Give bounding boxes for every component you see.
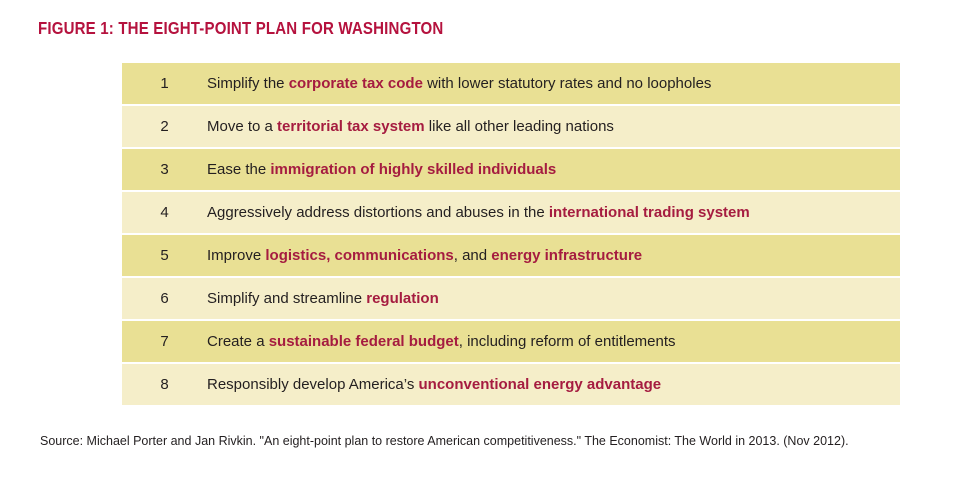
plain-phrase: Aggressively address distortions and abu… (207, 204, 549, 221)
plain-phrase: Move to a (207, 118, 277, 135)
plain-phrase: Create a (207, 333, 269, 350)
row-text: Simplify the corporate tax code with low… (207, 75, 900, 93)
row-number: 4 (122, 204, 207, 221)
plain-phrase: Simplify and streamline (207, 290, 366, 307)
table-row: 1Simplify the corporate tax code with lo… (122, 63, 900, 104)
source-note: Source: Michael Porter and Jan Rivkin. "… (40, 432, 945, 450)
table-row: 8Responsibly develop America’s unconvent… (122, 364, 900, 405)
table-row: 3Ease the immigration of highly skilled … (122, 149, 900, 190)
figure-container: Figure 1: The Eight-Point Plan for Washi… (0, 0, 966, 491)
row-number: 3 (122, 161, 207, 178)
plain-phrase: Simplify the (207, 75, 289, 92)
row-number: 5 (122, 247, 207, 264)
table-row: 7Create a sustainable federal budget, in… (122, 321, 900, 362)
row-number: 2 (122, 118, 207, 135)
highlighted-phrase: immigration of highly skilled individual… (270, 161, 556, 178)
row-number: 6 (122, 290, 207, 307)
table-row: 6Simplify and streamline regulation (122, 278, 900, 319)
plain-phrase: Responsibly develop America’s (207, 376, 419, 393)
highlighted-phrase: unconventional energy advantage (419, 376, 662, 393)
eight-point-plan-table: 1Simplify the corporate tax code with lo… (122, 63, 900, 405)
highlighted-phrase: territorial tax system (277, 118, 425, 135)
row-text: Aggressively address distortions and abu… (207, 204, 900, 222)
highlighted-phrase: regulation (366, 290, 439, 307)
row-number: 1 (122, 75, 207, 92)
highlighted-phrase: international trading system (549, 204, 750, 221)
row-text: Move to a territorial tax system like al… (207, 118, 900, 136)
highlighted-phrase: logistics, communications (265, 247, 453, 264)
highlighted-phrase: energy infrastructure (491, 247, 642, 264)
table-row: 5Improve logistics, communications, and … (122, 235, 900, 276)
plain-phrase: like all other leading nations (425, 118, 614, 135)
plain-phrase: Improve (207, 247, 265, 264)
plain-phrase: Ease the (207, 161, 270, 178)
plain-phrase: , and (454, 247, 492, 264)
row-number: 7 (122, 333, 207, 350)
row-text: Create a sustainable federal budget, inc… (207, 333, 900, 351)
highlighted-phrase: corporate tax code (289, 75, 423, 92)
highlighted-phrase: sustainable federal budget (269, 333, 459, 350)
table-row: 2Move to a territorial tax system like a… (122, 106, 900, 147)
page-title: Figure 1: The Eight-Point Plan for Washi… (38, 18, 443, 39)
table-row: 4Aggressively address distortions and ab… (122, 192, 900, 233)
row-text: Responsibly develop America’s unconventi… (207, 376, 900, 394)
row-number: 8 (122, 376, 207, 393)
row-text: Improve logistics, communications, and e… (207, 247, 900, 265)
row-text: Simplify and streamline regulation (207, 290, 900, 308)
plain-phrase: , including reform of entitlements (459, 333, 676, 350)
plain-phrase: with lower statutory rates and no loopho… (423, 75, 712, 92)
row-text: Ease the immigration of highly skilled i… (207, 161, 900, 179)
